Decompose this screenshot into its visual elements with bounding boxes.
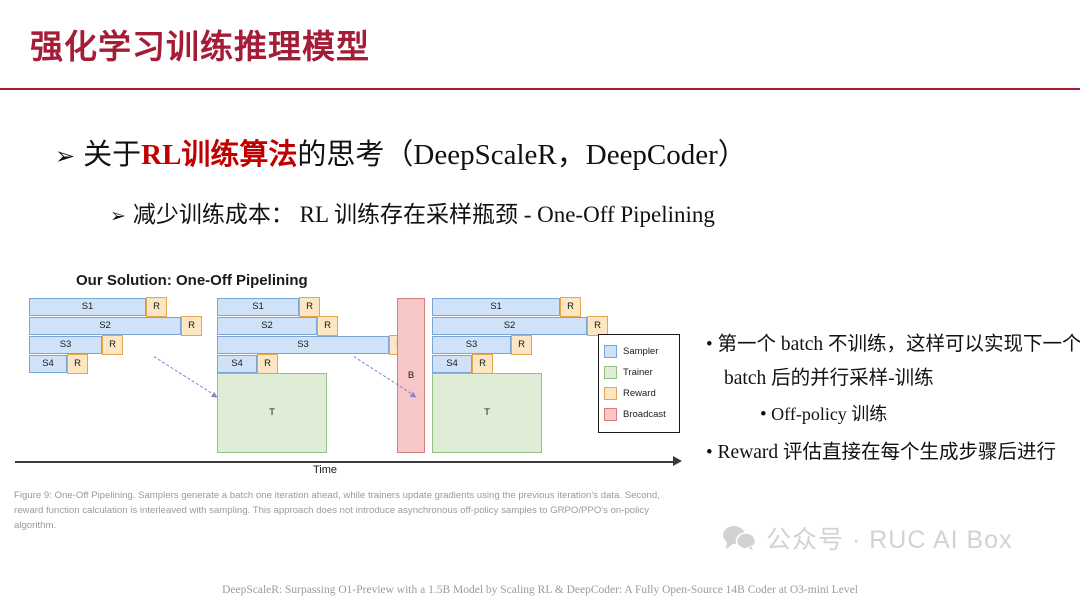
legend-item-broadcast: Broadcast (604, 404, 674, 425)
note-item-2-text: Reward 评估直接在每个生成步骤后进行 (718, 442, 1057, 463)
sampler-block-s4: S4 (217, 355, 257, 373)
sampler-block-s3: S3 (432, 336, 511, 354)
trainer-block: T (217, 373, 327, 453)
bullet-arrow-icon: ➢ (55, 144, 75, 170)
bullet-level-1-prefix: 关于 (83, 139, 141, 171)
bullet-dot-icon: • (706, 334, 713, 355)
watermark: 公众号 · RUC AI Box (722, 520, 1013, 556)
sampler-block-s2: S2 (432, 317, 587, 335)
legend-swatch-icon (604, 345, 617, 358)
note-item-1-sub: • Off-policy 训练 (760, 400, 1076, 426)
legend-label: Broadcast (623, 409, 666, 420)
legend-label: Sampler (623, 346, 658, 357)
chart-legend: SamplerTrainerRewardBroadcast (598, 334, 680, 433)
reward-block: R (102, 335, 123, 355)
sampler-block-s2: S2 (217, 317, 317, 335)
reward-block: R (472, 354, 493, 374)
title-divider (0, 88, 1080, 90)
reward-block: R (67, 354, 88, 374)
watermark-text: 公众号 · RUC AI Box (766, 520, 1013, 556)
bullet-level-2: ➢减少训练成本： RL 训练存在采样瓶颈 - One-Off Pipelinin… (110, 195, 715, 229)
trainer-block: T (432, 373, 542, 453)
pipeline-chart: S1RS2RS3RS4RS1RS2RS3RS4RTBS1RS2RS3RS4RT (14, 298, 690, 453)
sampler-block-s1: S1 (29, 298, 146, 316)
legend-item-sampler: Sampler (604, 341, 674, 362)
note-item-1-text: 第一个 batch 不训练，这样可以实现下一个batch 后的并行采样-训练 (718, 334, 1080, 389)
sampler-block-s1: S1 (432, 298, 560, 316)
reward-block: R (299, 297, 320, 317)
legend-swatch-icon (604, 366, 617, 379)
legend-item-trainer: Trainer (604, 362, 674, 383)
reward-block: R (511, 335, 532, 355)
reward-block: R (587, 316, 608, 336)
sampler-block-s4: S4 (29, 355, 67, 373)
reward-block: R (181, 316, 202, 336)
note-item-1-sub-text: Off-policy 训练 (771, 404, 887, 424)
legend-swatch-icon (604, 408, 617, 421)
pipeline-arrow-icon (153, 356, 217, 397)
bullet-level-1-suffix: 的思考（DeepScaleR，DeepCoder） (297, 139, 746, 171)
sampler-block-s2: S2 (29, 317, 181, 335)
figure-caption: Figure 9: One-Off Pipelining. Samplers g… (14, 489, 684, 534)
note-item-2: • Reward 评估直接在每个生成步骤后进行 (706, 436, 1080, 470)
page-title: 强化学习训练推理模型 (30, 20, 370, 68)
note-item-1: • 第一个 batch 不训练，这样可以实现下一个batch 后的并行采样-训练 (706, 328, 1080, 396)
reward-block: R (317, 316, 338, 336)
broadcast-block: B (397, 298, 425, 453)
bullet-level-2-text: 减少训练成本： RL 训练存在采样瓶颈 - One-Off Pipelining (133, 202, 715, 227)
legend-swatch-icon (604, 387, 617, 400)
time-axis-arrow-icon (673, 456, 682, 466)
wechat-icon (722, 525, 756, 551)
time-axis-line (15, 461, 675, 463)
reward-block: R (560, 297, 581, 317)
sampler-block-s3: S3 (29, 336, 102, 354)
bullet-level-1-highlight: RL训练算法 (141, 139, 297, 171)
reward-block: R (257, 354, 278, 374)
reward-block: R (146, 297, 167, 317)
bullet-dot-icon: • (706, 442, 713, 463)
sampler-block-s1: S1 (217, 298, 299, 316)
bullet-level-1: ➢关于RL训练算法的思考（DeepScaleR，DeepCoder） (55, 131, 747, 173)
bullet-dot-icon: • (760, 404, 767, 425)
sampler-block-s4: S4 (432, 355, 472, 373)
bullet-arrow-icon: ➢ (110, 206, 126, 227)
legend-label: Trainer (623, 367, 653, 378)
time-axis-label: Time (313, 464, 337, 476)
legend-label: Reward (623, 388, 656, 399)
sampler-block-s3: S3 (217, 336, 389, 354)
footer-citation: DeepScaleR: Surpassing O1-Preview with a… (0, 584, 1080, 596)
legend-item-reward: Reward (604, 383, 674, 404)
figure-title: Our Solution: One-Off Pipelining (76, 272, 308, 289)
